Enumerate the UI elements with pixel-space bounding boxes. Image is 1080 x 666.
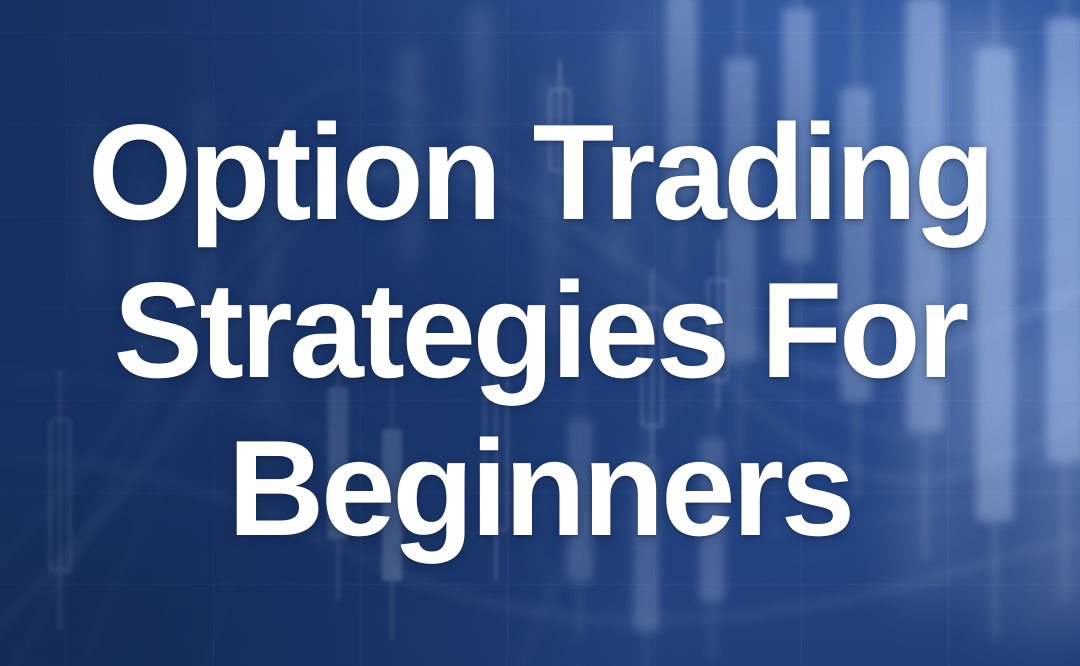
hero-banner: Option Trading Strategies For Beginners [0,0,1080,666]
headline-line-2: Strategies For [114,251,967,409]
headline-line-1: Option Trading [88,93,992,251]
headline-line-3: Beginners [228,409,852,567]
page-title: Option Trading Strategies For Beginners [0,0,1080,666]
